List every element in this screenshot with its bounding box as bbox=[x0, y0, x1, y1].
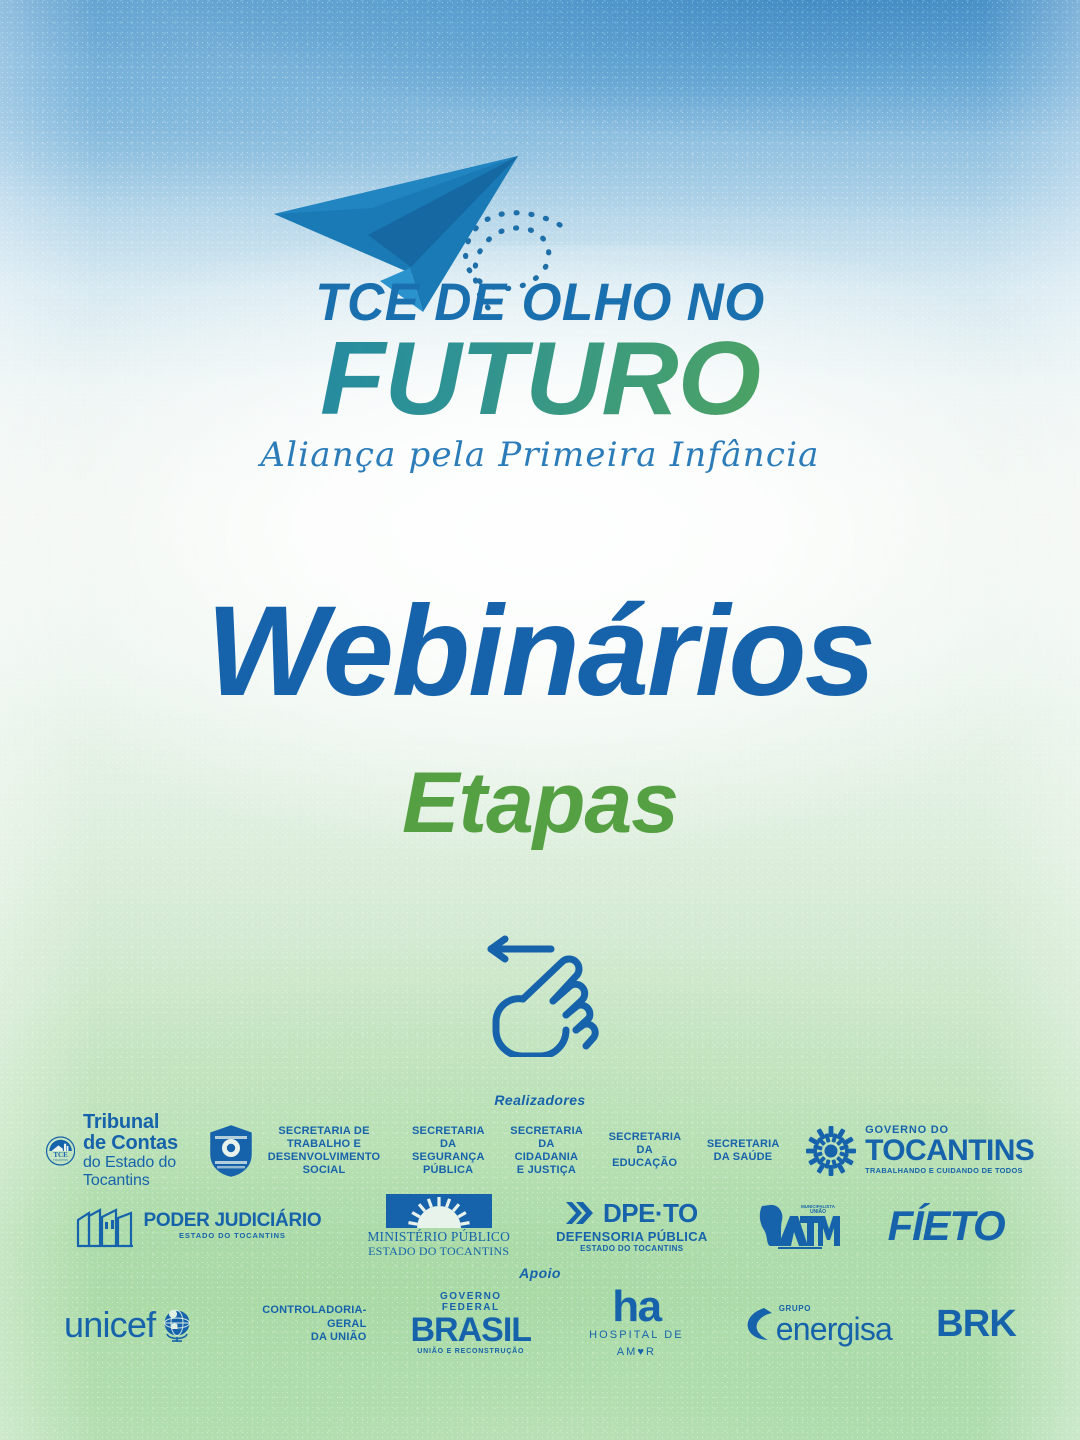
logo-atm: UNIÃO MUNICIPALISTA bbox=[754, 1202, 842, 1250]
brand-line-2: FUTURO bbox=[0, 331, 1080, 429]
logo-governo-do-tocantins: GOVERNO DO TOCANTINS TRABALHANDO E CUIDA… bbox=[805, 1125, 1034, 1177]
tribunal-de-contas-line2: do Estado do Tocantins bbox=[83, 1154, 182, 1189]
governo-tocantins-line3: TRABALHANDO E CUIDANDO DE TODOS bbox=[865, 1167, 1034, 1176]
governo-tocantins-line3-pre: TRABALHANDO E CUIDANDO DE bbox=[865, 1166, 995, 1175]
dpe-chevron-icon bbox=[566, 1199, 600, 1227]
logo-secretaria-educacao: SECRETARIA DA EDUCAÇÃO bbox=[609, 1131, 681, 1170]
tocantins-sunburst-icon bbox=[805, 1125, 857, 1177]
logo-row-realizadores-2: PODER JUDICIÁRIO ESTADO DO TOCANTINS bbox=[64, 1193, 1016, 1259]
logo-row-realizadores-1: TCE TOCANTINS Tribunal de Contas do Esta… bbox=[64, 1112, 1016, 1189]
logo-unicef: unicef bbox=[64, 1304, 195, 1346]
unicef-globe-icon bbox=[159, 1307, 195, 1343]
svg-text:TCE: TCE bbox=[53, 1151, 68, 1159]
logo-secretaria-trabalho: SECRETARIA DE TRABALHO E DESENVOLVIMENTO… bbox=[208, 1124, 386, 1178]
governo-tocantins-line3-bold: TODOS bbox=[995, 1166, 1023, 1175]
poster-root: TCE DE OLHO NO FUTURO Aliança pela Prime… bbox=[0, 0, 1080, 1440]
sunburst-banner-icon bbox=[386, 1194, 492, 1228]
ministerio-publico-line2: ESTADO DO TOCANTINS bbox=[367, 1245, 510, 1258]
secretaria-trabalho-text: SECRETARIA DE TRABALHO E DESENVOLVIMENTO… bbox=[262, 1125, 386, 1177]
headline-block: Webinários Etapas bbox=[0, 588, 1080, 846]
swipe-hint[interactable] bbox=[0, 935, 1080, 1057]
logo-poder-judiciario: PODER JUDICIÁRIO ESTADO DO TOCANTINS bbox=[75, 1204, 321, 1248]
brasil-line2: BRASIL bbox=[411, 1313, 532, 1347]
logo-brk: BRK bbox=[936, 1303, 1016, 1346]
poster-content: TCE DE OLHO NO FUTURO Aliança pela Prime… bbox=[0, 0, 1080, 1440]
realizadores-label: Realizadores bbox=[64, 1092, 1016, 1108]
logo-defensoria-publica: DPE·TO DEFENSORIA PÚBLICA ESTADO DO TOCA… bbox=[556, 1198, 708, 1255]
logo-ministerio-publico: MINISTÉRIO PÚBLICO ESTADO DO TOCANTINS bbox=[367, 1194, 510, 1258]
swipe-left-hand-icon[interactable] bbox=[475, 935, 605, 1057]
headline-title: Webinários bbox=[0, 588, 1080, 716]
brand-logo: TCE DE OLHO NO FUTURO Aliança pela Prime… bbox=[0, 150, 1080, 475]
logo-secretaria-seguranca-publica: SECRETARIA DA SEGURANÇA PÚBLICA bbox=[412, 1125, 484, 1177]
courthouse-building-icon bbox=[75, 1204, 135, 1248]
poder-judiciario-text: PODER JUDICIÁRIO ESTADO DO TOCANTINS bbox=[143, 1211, 321, 1241]
atm-state-map-icon: UNIÃO MUNICIPALISTA bbox=[754, 1202, 842, 1250]
governo-tocantins-line2: TOCANTINS bbox=[865, 1136, 1034, 1167]
brand-tagline: Aliança pela Primeira Infância bbox=[0, 435, 1080, 475]
hospital-de-amor-name: HOSPITAL DE AM♥R bbox=[575, 1327, 698, 1362]
hospital-de-amor-monogram: ha bbox=[575, 1287, 698, 1327]
svg-text:TOCANTINS: TOCANTINS bbox=[53, 1159, 68, 1162]
brasil-line1: GOVERNO FEDERAL bbox=[411, 1291, 532, 1313]
logo-secretaria-cidadania-justica: SECRETARIA DA CIDADANIA E JUSTIÇA bbox=[510, 1125, 582, 1177]
logo-grupo-energisa: GRUPO energisa bbox=[742, 1305, 892, 1345]
logo-governo-federal-brasil: GOVERNO FEDERAL BRASIL UNIÃO E RECONSTRU… bbox=[411, 1291, 532, 1358]
energisa-ribbon-icon bbox=[742, 1306, 774, 1344]
ministerio-publico-text: MINISTÉRIO PÚBLICO ESTADO DO TOCANTINS bbox=[367, 1230, 510, 1258]
svg-text:UNIÃO: UNIÃO bbox=[810, 1208, 826, 1215]
ministerio-publico-line1: MINISTÉRIO PÚBLICO bbox=[367, 1230, 510, 1245]
logo-hospital-de-amor: ha HOSPITAL DE AM♥R bbox=[575, 1287, 698, 1362]
logo-fieto: FÍETO bbox=[888, 1202, 1005, 1250]
headline-subtitle: Etapas bbox=[0, 760, 1080, 846]
logo-secretaria-saude: SECRETARIA DA SAÚDE bbox=[707, 1138, 779, 1164]
energisa-wordmark: energisa bbox=[776, 1313, 892, 1345]
defensoria-publica-line3: ESTADO DO TOCANTINS bbox=[556, 1244, 708, 1254]
tribunal-de-contas-line1: Tribunal de Contas bbox=[83, 1112, 182, 1154]
tce-seal-icon: TCE TOCANTINS bbox=[46, 1125, 75, 1177]
svg-text:MUNICIPALISTA: MUNICIPALISTA bbox=[801, 1204, 836, 1209]
tocantins-state-crest-icon bbox=[208, 1124, 254, 1178]
tribunal-de-contas-text: Tribunal de Contas do Estado do Tocantin… bbox=[83, 1112, 182, 1189]
brasil-line3: UNIÃO E RECONSTRUÇÃO bbox=[411, 1347, 532, 1358]
apoio-label: Apoio bbox=[64, 1265, 1016, 1281]
logo-tribunal-de-contas: TCE TOCANTINS Tribunal de Contas do Esta… bbox=[46, 1112, 182, 1189]
partners-section: Realizadores TCE TOCANTINS Tribu bbox=[0, 1092, 1080, 1362]
poder-judiciario-line1: PODER JUDICIÁRIO bbox=[143, 1211, 321, 1230]
logo-row-apoio: unicef bbox=[64, 1287, 1016, 1362]
cgu-line1: CONTROLADORIA-GERAL bbox=[239, 1304, 366, 1332]
defensoria-publica-line2: DEFENSORIA PÚBLICA bbox=[556, 1230, 708, 1245]
defensoria-publica-text: DEFENSORIA PÚBLICA ESTADO DO TOCANTINS bbox=[556, 1230, 708, 1255]
defensoria-publica-acronym: DPE·TO bbox=[603, 1198, 698, 1229]
governo-tocantins-text: GOVERNO DO TOCANTINS TRABALHANDO E CUIDA… bbox=[865, 1125, 1034, 1175]
logo-controladoria-geral: CONTROLADORIA-GERAL DA UNIÃO bbox=[239, 1304, 366, 1345]
poder-judiciario-line2: ESTADO DO TOCANTINS bbox=[143, 1230, 321, 1241]
cgu-line2: DA UNIÃO bbox=[239, 1331, 366, 1345]
unicef-wordmark: unicef bbox=[64, 1304, 155, 1346]
